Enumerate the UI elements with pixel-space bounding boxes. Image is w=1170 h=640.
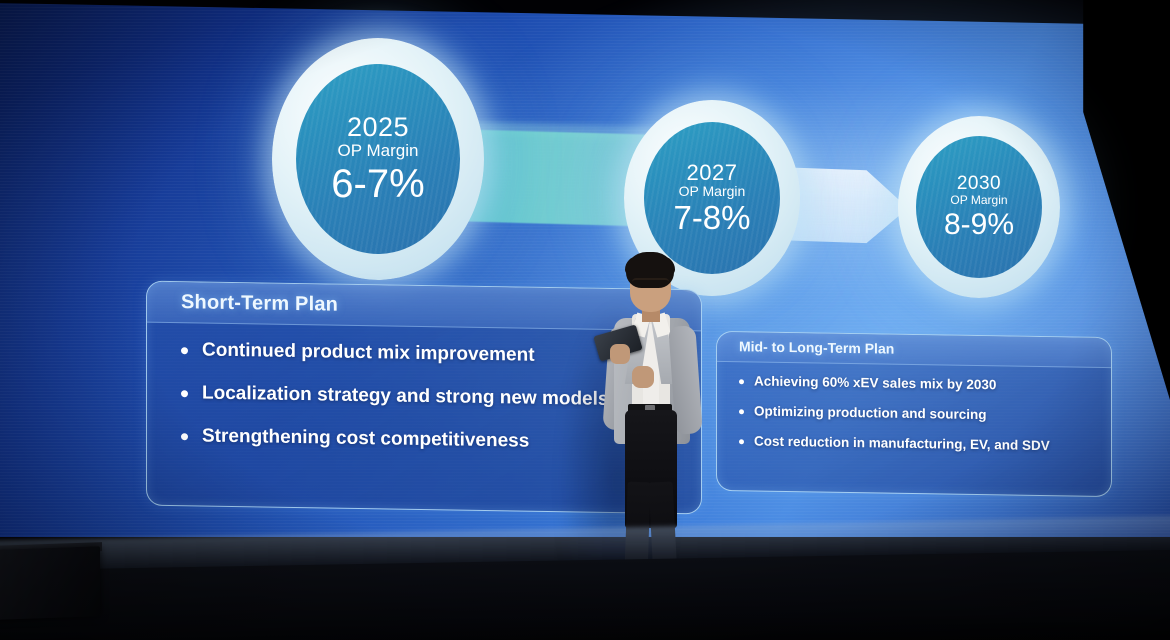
bullet-dot-icon xyxy=(181,390,188,397)
milestone-circle-2025: 2025 OP Margin 6-7% xyxy=(272,38,484,280)
milestone-year: 2025 xyxy=(347,113,409,141)
bullet-text: Achieving 60% xEV sales mix by 2030 xyxy=(754,373,996,392)
presenter-hair-front xyxy=(625,256,675,275)
milestone-core-2025: 2025 OP Margin 6-7% xyxy=(296,64,460,254)
panel-title: Mid- to Long-Term Plan xyxy=(739,338,894,356)
bullet-text: Continued product mix improvement xyxy=(202,340,535,367)
milestone-value: 8-9% xyxy=(944,209,1014,241)
stage-monitor-speaker xyxy=(0,546,100,620)
bullet-text: Localization strategy and strong new mod… xyxy=(202,383,608,411)
bullet-text: Optimizing production and sourcing xyxy=(754,403,987,422)
keynote-stage-photo: 2025 OP Margin 6-7% 2027 OP Margin 7-8% … xyxy=(0,0,1170,640)
bullet-dot-icon xyxy=(739,379,744,384)
bullet-dot-icon xyxy=(739,439,744,444)
milestone-year: 2030 xyxy=(957,174,1001,194)
milestone-metric-label: OP Margin xyxy=(950,194,1007,207)
presenter-left-hand xyxy=(610,344,630,364)
milestone-value: 7-8% xyxy=(673,201,750,236)
milestone-metric-label: OP Margin xyxy=(679,184,746,199)
bullet-dot-icon xyxy=(181,347,188,354)
milestone-core-2030: 2030 OP Margin 8-9% xyxy=(916,136,1042,278)
milestone-value: 6-7% xyxy=(331,163,424,205)
milestone-circle-2030: 2030 OP Margin 8-9% xyxy=(898,116,1060,298)
presenter-right-hand xyxy=(632,366,654,388)
bullet-text: Strengthening cost competitiveness xyxy=(202,426,529,453)
milestone-year: 2027 xyxy=(687,161,738,184)
list-item: Achieving 60% xEV sales mix by 2030 xyxy=(739,373,1111,394)
mid-to-long-term-plan-panel: Mid- to Long-Term Plan Achieving 60% xEV… xyxy=(716,331,1112,497)
bullet-dot-icon xyxy=(739,409,744,414)
bullet-text: Cost reduction in manufacturing, EV, and… xyxy=(754,433,1050,453)
list-item: Optimizing production and sourcing xyxy=(739,403,1111,424)
glasses-icon xyxy=(632,278,669,286)
list-item: Cost reduction in manufacturing, EV, and… xyxy=(739,433,1111,454)
milestone-metric-label: OP Margin xyxy=(338,142,419,160)
bullet-dot-icon xyxy=(181,433,188,440)
panel-title: Short-Term Plan xyxy=(181,291,338,316)
panel-body: Achieving 60% xEV sales mix by 2030 Opti… xyxy=(717,362,1111,479)
